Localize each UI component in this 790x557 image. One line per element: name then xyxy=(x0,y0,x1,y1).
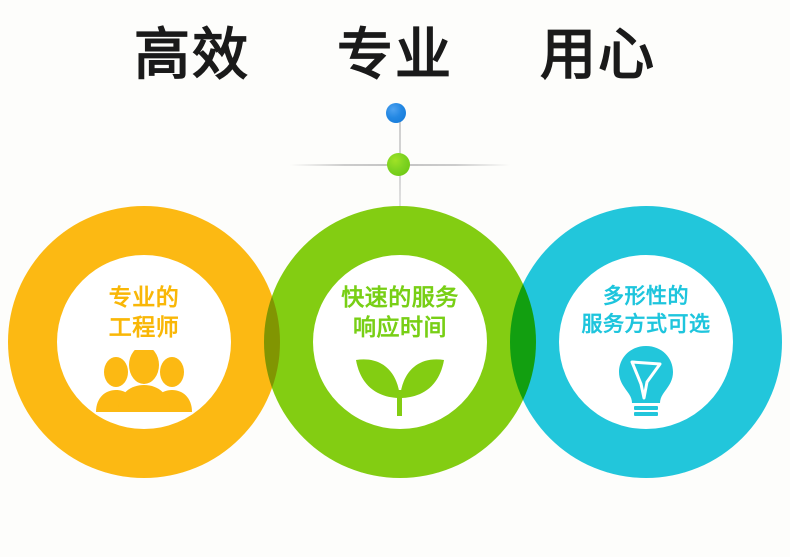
ring-label-line: 工程师 xyxy=(109,313,180,343)
ring-label-service-options: 多形性的 服务方式可选 xyxy=(582,283,711,338)
ring-label-response-time: 快速的服务 响应时间 xyxy=(341,283,459,344)
ring-label-line: 快速的服务 xyxy=(341,283,459,313)
ring-item-response-time[interactable]: 快速的服务 响应时间 xyxy=(313,255,487,429)
sprout-leaf-icon xyxy=(348,350,452,416)
ring-label-line: 专业的 xyxy=(109,283,180,313)
ring-label-line: 响应时间 xyxy=(341,313,459,343)
ring-label-line: 服务方式可选 xyxy=(582,311,711,339)
infographic-canvas: 高效 专业 用心 专业的 工程师 xyxy=(0,0,790,557)
ring-item-service-options[interactable]: 多形性的 服务方式可选 xyxy=(559,255,733,429)
ring-label-engineers: 专业的 工程师 xyxy=(109,283,180,344)
ring-item-engineers[interactable]: 专业的 工程师 xyxy=(57,255,231,429)
people-group-icon xyxy=(92,350,196,412)
lightbulb-icon xyxy=(610,344,682,416)
ring-label-line: 多形性的 xyxy=(582,283,711,311)
